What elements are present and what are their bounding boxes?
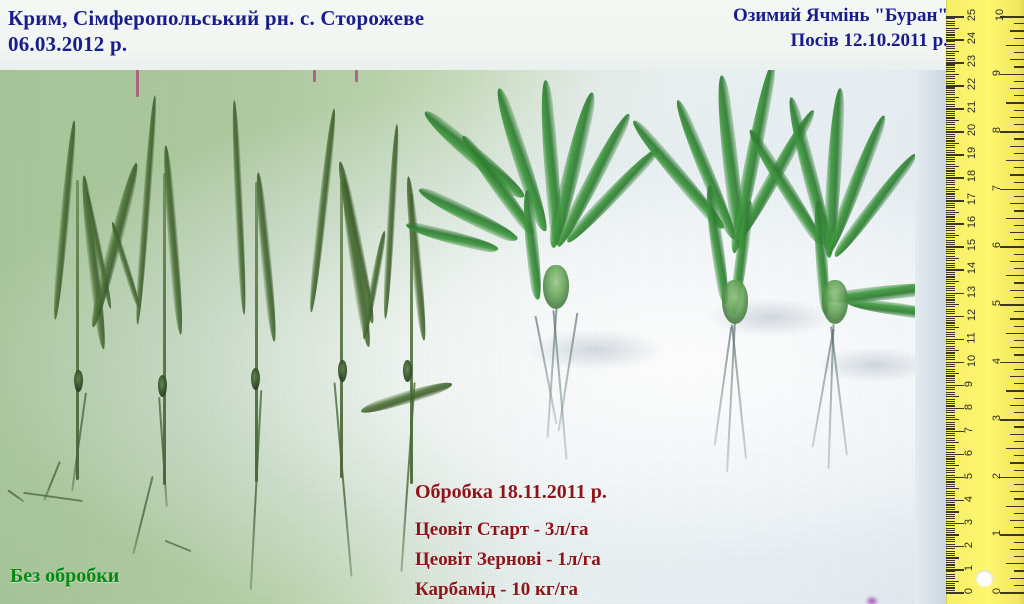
ruler-tick-inch (1014, 354, 1024, 355)
ruler-tick-cm (946, 108, 964, 110)
ruler-tick-cm (946, 403, 955, 404)
ruler-tick-cm (946, 336, 955, 337)
ruler-tick-inch (1014, 455, 1024, 456)
ruler-tick-cm (946, 120, 959, 121)
ruler-label-cm: 5 (963, 473, 975, 479)
ruler-tick-cm (946, 532, 955, 533)
treatment-line-2: Цеовіт Зернові - 1л/га (415, 545, 607, 575)
ruler-tick-cm (946, 274, 955, 275)
ruler-tick-cm (946, 191, 955, 192)
ruler-tick-cm (946, 493, 955, 494)
ruler-tick-cm (946, 410, 955, 411)
ruler-tick-cm (946, 329, 955, 330)
ruler-tick-cm (946, 150, 955, 151)
ruler-tick-cm (946, 456, 955, 457)
ruler-label-cm: 23 (966, 55, 978, 67)
ruler-tick-cm (946, 504, 955, 505)
ruler-tick-cm (946, 41, 955, 42)
ruler-tick-inch (1006, 102, 1024, 103)
ruler-tick-cm (946, 143, 959, 144)
ruler: 0123456789101112131415161718192021222324… (946, 0, 1024, 604)
ruler-tick-cm (946, 507, 955, 508)
ruler-tick-cm (946, 207, 955, 208)
ruler-tick-cm (946, 304, 959, 305)
ruler-tick-cm (946, 30, 955, 31)
ruler-tick-cm (946, 587, 955, 588)
ruler-tick-cm (946, 424, 955, 425)
ruler-tick-inch (1010, 59, 1024, 60)
ruler-tick-inch (1010, 232, 1024, 233)
ruler-tick-cm (946, 267, 955, 268)
ruler-tick-cm (946, 546, 964, 548)
ruler-label-inch: 6 (991, 242, 1003, 248)
ruler-tick-cm (946, 574, 955, 575)
ruler-label-cm: 2 (963, 542, 975, 548)
ruler-tick-cm (946, 53, 955, 54)
ruler-tick-inch (1014, 254, 1024, 255)
ruler-tick-cm (946, 147, 955, 148)
ruler-tick-inch (1014, 311, 1024, 312)
ruler-tick-cm (946, 440, 955, 441)
ruler-label-inch: 8 (991, 127, 1003, 133)
ruler-tick-inch (1000, 304, 1024, 306)
ruler-tick-cm (946, 302, 955, 303)
ruler-tick-cm (946, 592, 964, 594)
ruler-tick-cm (946, 279, 955, 280)
ruler-tick-cm (946, 152, 955, 153)
ruler-tick-cm (946, 272, 955, 273)
ruler-tick-inch (1010, 549, 1024, 550)
ruler-tick-cm (946, 516, 955, 517)
ruler-tick-cm (946, 111, 955, 112)
ruler-tick-cm (946, 251, 955, 252)
ruler-tick-cm (946, 39, 964, 41)
ruler-tick-cm (946, 564, 955, 565)
ruler-tick-cm (946, 295, 955, 296)
ruler-label-inch: 2 (991, 473, 1003, 479)
ruler-tick-cm (946, 76, 955, 77)
ruler-label-cm: 15 (966, 239, 978, 251)
ruler-tick-cm (946, 350, 959, 351)
ruler-tick-cm (946, 276, 955, 277)
ruler-tick-inch (1006, 333, 1024, 334)
ruler-tick-cm (946, 69, 955, 70)
ruler-tick-inch (1014, 167, 1024, 168)
ruler-tick-cm (946, 322, 955, 323)
ruler-tick-inch (1006, 275, 1024, 276)
ruler-tick-inch (1000, 189, 1024, 191)
ruler-tick-cm (946, 442, 959, 443)
ruler-tick-cm (946, 412, 955, 413)
ruler-tick-cm (946, 44, 955, 45)
ruler-tick-cm (946, 320, 955, 321)
ruler-tick-cm (946, 371, 955, 372)
ruler-tick-cm (946, 127, 955, 128)
ruler-tick-cm (946, 78, 955, 79)
ruler-tick-inch (1014, 66, 1024, 67)
ruler-tick-inch (1010, 434, 1024, 435)
ruler-tick-inch (1014, 326, 1024, 327)
ruler-tick-inch (1014, 225, 1024, 226)
ruler-tick-cm (946, 74, 959, 75)
ruler-tick-cm (946, 117, 955, 118)
ruler-tick-cm (946, 500, 964, 502)
ruler-tick-cm (946, 104, 955, 105)
ruler-tick-inch (1006, 506, 1024, 507)
ruler-tick-cm (946, 214, 955, 215)
ruler-tick-inch (1010, 174, 1024, 175)
ruler-tick-inch (1014, 138, 1024, 139)
ruler-tick-inch (1014, 441, 1024, 442)
ruler-tick-inch (1014, 23, 1024, 24)
ruler-tick-inch (1014, 268, 1024, 269)
ruler-tick-cm (946, 299, 955, 300)
ruler-label-cm: 0 (963, 588, 975, 594)
ruler-tick-inch (1000, 131, 1024, 133)
ruler-tick-inch (1014, 196, 1024, 197)
ruler-tick-cm (946, 237, 955, 238)
ruler-tick-cm (946, 216, 955, 217)
ruler-tick-cm (946, 419, 959, 420)
ruler-label-cm: 22 (966, 78, 978, 90)
ruler-tick-inch (1000, 419, 1024, 421)
ruler-tick-cm (946, 387, 955, 388)
ruler-tick-cm (946, 539, 955, 540)
ruler-tick-cm (946, 475, 955, 476)
ruler-tick-cm (946, 297, 955, 298)
ruler-tick-cm (946, 58, 955, 59)
ruler-tick-cm (946, 454, 964, 456)
ruler-tick-cm (946, 90, 955, 91)
ruler-tick-cm (946, 359, 955, 360)
ruler-tick-inch (1014, 484, 1024, 485)
ruler-tick-cm (946, 288, 955, 289)
ruler-tick-inch (1000, 592, 1024, 594)
ruler-tick-cm (946, 316, 964, 318)
ruler-tick-cm (946, 445, 955, 446)
ruler-tick-cm (946, 283, 955, 284)
ruler-tick-inch (1014, 52, 1024, 53)
ruler-tick-cm (946, 175, 955, 176)
ruler-tick-cm (946, 221, 955, 222)
ruler-tick-cm (946, 106, 955, 107)
ruler-tick-inch (1014, 110, 1024, 111)
ruler-label-inch: 3 (991, 415, 1003, 421)
ruler-tick-cm (946, 472, 955, 473)
ruler-tick-inch (1014, 340, 1024, 341)
ruler-tick-cm (946, 571, 955, 572)
ruler-tick-cm (946, 219, 955, 220)
ruler-tick-cm (946, 394, 955, 395)
ruler-label-cm: 7 (963, 427, 975, 433)
ruler-tick-cm (946, 28, 959, 29)
ruler-tick-cm (946, 399, 955, 400)
ruler-tick-cm (946, 64, 955, 65)
ruler-tick-cm (946, 173, 955, 174)
ruler-tick-cm (946, 523, 964, 525)
header-band: Крим, Сімферопольський рн. с. Сторожеве … (0, 0, 946, 70)
ruler-tick-cm (946, 122, 955, 123)
ruler-tick-cm (946, 306, 955, 307)
ruler-tick-inch (1014, 412, 1024, 413)
ruler-tick-cm (946, 115, 955, 116)
ruler-tick-cm (946, 157, 955, 158)
ruler-tick-cm (946, 544, 955, 545)
ruler-tick-cm (946, 60, 955, 61)
untreated-caption: Без обробки (10, 565, 119, 588)
ruler-tick-cm (946, 101, 955, 102)
ruler-tick-cm (946, 447, 955, 448)
ruler-tick-cm (946, 180, 955, 181)
ruler-tick-cm (946, 48, 955, 49)
ruler-tick-inch (1010, 88, 1024, 89)
ruler-tick-cm (946, 159, 955, 160)
ruler-tick-cm (946, 138, 955, 139)
ruler-tick-cm (946, 203, 955, 204)
ruler-tick-cm (946, 366, 955, 367)
ruler-tick-cm (946, 242, 955, 243)
ruler-tick-inch (1014, 527, 1024, 528)
ruler-tick-cm (946, 281, 959, 282)
ruler-tick-cm (946, 23, 955, 24)
ruler-tick-cm (946, 134, 955, 135)
ruler-tick-cm (946, 431, 964, 433)
ruler-tick-cm (946, 113, 955, 114)
ruler-tick-cm (946, 578, 955, 579)
treatment-caption: Обробка 18.11.2011 р. Цеовіт Старт - 3л/… (415, 477, 607, 604)
ruler-tick-cm (946, 263, 955, 264)
ruler-tick-cm (946, 25, 955, 26)
ruler-tick-cm (946, 378, 955, 379)
ruler-tick-cm (946, 433, 955, 434)
ruler-tick-cm (946, 562, 955, 563)
ruler-tick-inch (1014, 498, 1024, 499)
ruler-tick-cm (946, 293, 964, 295)
ruler-tick-cm (946, 511, 959, 512)
ruler-tick-cm (946, 62, 964, 64)
ruler-label-inch: 9 (991, 70, 1003, 76)
ruler-tick-cm (946, 385, 964, 387)
ruler-tick-cm (946, 428, 955, 429)
ruler-tick-cm (946, 170, 955, 171)
ruler-tick-cm (946, 484, 955, 485)
ruler-label-cm: 16 (966, 216, 978, 228)
ruler-label-cm: 3 (963, 519, 975, 525)
ruler-tick-inch (1010, 261, 1024, 262)
ruler-tick-cm (946, 327, 959, 328)
ruler-tick-cm (946, 85, 964, 87)
ruler-tick-inch (1010, 578, 1024, 579)
ruler-tick-cm (946, 244, 955, 245)
ruler-tick-cm (946, 435, 955, 436)
ruler-tick-cm (946, 541, 955, 542)
ruler-tick-cm (946, 140, 955, 141)
ruler-tick-cm (946, 569, 964, 571)
ruler-tick-cm (946, 32, 955, 33)
ruler-tick-cm (946, 265, 955, 266)
ruler-tick-cm (946, 332, 955, 333)
ruler-tick-cm (946, 253, 955, 254)
ruler-tick-cm (946, 380, 955, 381)
ruler-label-cm: 1 (963, 565, 975, 571)
ruler-tick-cm (946, 382, 955, 383)
ruler-tick-cm (946, 318, 955, 319)
ruler-tick-cm (946, 518, 955, 519)
ruler-tick-cm (946, 131, 964, 133)
ruler-tick-cm (946, 269, 964, 271)
ruler-tick-cm (946, 177, 964, 179)
ruler-tick-inch (1006, 160, 1024, 161)
ruler-tick-cm (946, 352, 955, 353)
ruler-tick-cm (946, 92, 955, 93)
ruler-label-cm: 20 (966, 124, 978, 136)
ruler-tick-cm (946, 313, 955, 314)
ruler-tick-cm (946, 235, 959, 236)
ruler-label-cm: 14 (966, 262, 978, 274)
ruler-label-cm: 13 (966, 285, 978, 297)
ruler-tick-cm (946, 311, 955, 312)
ruler-tick-cm (946, 426, 955, 427)
photo-edge-strip (915, 70, 946, 604)
ruler-tick-cm (946, 168, 955, 169)
ruler-tick-cm (946, 548, 955, 549)
ruler-tick-inch (1014, 95, 1024, 96)
ruler-tick-cm (946, 71, 955, 72)
ruler-tick-inch (1010, 203, 1024, 204)
ruler-label-inch: 5 (991, 300, 1003, 306)
ruler-tick-inch (1014, 282, 1024, 283)
ruler-tick-inch (1014, 38, 1024, 39)
ruler-tick-inch (1014, 182, 1024, 183)
ruler-tick-cm (946, 346, 955, 347)
ruler-tick-inch (1000, 477, 1024, 479)
ruler-tick-cm (946, 166, 959, 167)
ruler-tick-cm (946, 583, 955, 584)
ruler-tick-cm (946, 196, 955, 197)
ruler-tick-cm (946, 408, 964, 410)
ruler-tick-cm (946, 560, 955, 561)
ruler-tick-cm (946, 389, 955, 390)
ruler-tick-cm (946, 97, 959, 98)
ruler-tick-inch (1006, 390, 1024, 391)
crop-variety-line: Озимий Ячмінь "Буран" (733, 3, 948, 28)
ruler-tick-cm (946, 479, 955, 480)
ruler-label-inch: 7 (991, 185, 1003, 191)
ruler-tick-cm (946, 534, 959, 535)
ruler-tick-inch (1000, 246, 1024, 248)
ruler-tick-cm (946, 129, 955, 130)
ruler-label-cm: 11 (966, 332, 978, 343)
ruler-tick-cm (946, 46, 955, 47)
ruler-tick-cm (946, 470, 955, 471)
ruler-tick-inch (1014, 398, 1024, 399)
ruler-tick-inch (1014, 542, 1024, 543)
ruler-tick-cm (946, 154, 964, 156)
ruler-tick-cm (946, 51, 959, 52)
sowing-date-line: Посів 12.10.2011 р. (733, 28, 948, 53)
ruler-label-cm: 10 (966, 354, 978, 366)
ruler-tick-cm (946, 343, 955, 344)
ruler-tick-cm (946, 228, 955, 229)
treatment-line-3: Карбамід - 10 кг/га (415, 575, 607, 604)
ruler-tick-cm (946, 226, 955, 227)
ruler-label-cm: 18 (966, 170, 978, 182)
ruler-tick-cm (946, 495, 955, 496)
ruler-tick-cm (946, 94, 955, 95)
ruler-tick-cm (946, 136, 955, 137)
ruler-tick-cm (946, 87, 955, 88)
ruler-tick-inch (1014, 426, 1024, 427)
ruler-tick-inch (1000, 534, 1024, 536)
ruler-tick-cm (946, 373, 959, 374)
ruler-tick-cm (946, 481, 955, 482)
ruler-tick-inch (1010, 376, 1024, 377)
treatment-title: Обробка 18.11.2011 р. (415, 477, 607, 507)
ruler-tick-cm (946, 537, 955, 538)
ruler-tick-inch (1010, 290, 1024, 291)
ruler-tick-cm (946, 461, 955, 462)
location-date-heading: Крим, Сімферопольський рн. с. Сторожеве … (8, 5, 424, 57)
ruler-tick-cm (946, 521, 955, 522)
ruler-cm-scale: 0123456789101112131415161718192021222324… (946, 0, 984, 604)
ruler-tick-cm (946, 21, 955, 22)
ruler-tick-cm (946, 375, 955, 376)
ruler-tick-cm (946, 401, 955, 402)
ruler-tick-cm (946, 200, 964, 202)
ruler-tick-cm (946, 369, 955, 370)
ruler-tick-cm (946, 362, 964, 364)
ruler-tick-inch (1010, 30, 1024, 31)
ruler-tick-cm (946, 357, 955, 358)
ruler-tick-cm (946, 498, 955, 499)
ruler-tick-cm (946, 67, 955, 68)
location-line: Крим, Сімферопольський рн. с. Сторожеве (8, 5, 424, 31)
ruler-tick-cm (946, 309, 955, 310)
ruler-tick-inch (1010, 146, 1024, 147)
ruler-tick-cm (946, 325, 955, 326)
ruler-tick-cm (946, 555, 955, 556)
ruler-tick-cm (946, 124, 955, 125)
ruler-tick-inch (1010, 117, 1024, 118)
ruler-tick-inch (1014, 297, 1024, 298)
ruler-tick-cm (946, 452, 955, 453)
ruler-tick-cm (946, 18, 955, 19)
ruler-tick-inch (1014, 153, 1024, 154)
ruler-tick-cm (946, 193, 955, 194)
ruler-tick-cm (946, 161, 955, 162)
treatment-line-1: Цеовіт Старт - 3л/га (415, 515, 607, 545)
ruler-tick-cm (946, 585, 955, 586)
ruler-tick-cm (946, 256, 955, 257)
ruler-tick-cm (946, 417, 955, 418)
ruler-tick-cm (946, 465, 959, 466)
ruler-tick-cm (946, 422, 955, 423)
ruler-tick-cm (946, 553, 955, 554)
ruler-tick-cm (946, 364, 955, 365)
ruler-tick-cm (946, 260, 955, 261)
crop-sowing-heading: Озимий Ячмінь "Буран" Посів 12.10.2011 р… (733, 3, 948, 53)
ruler-tick-inch (1000, 362, 1024, 364)
ruler-tick-inch (1010, 318, 1024, 319)
ruler-tick-cm (946, 145, 955, 146)
ruler-tick-inch (1006, 563, 1024, 564)
ruler-tick-cm (946, 55, 955, 56)
ruler-label-cm: 9 (963, 381, 975, 387)
ruler-tick-inch (1014, 570, 1024, 571)
ruler-tick-cm (946, 468, 955, 469)
ruler-tick-cm (946, 576, 955, 577)
ruler-tick-cm (946, 34, 955, 35)
